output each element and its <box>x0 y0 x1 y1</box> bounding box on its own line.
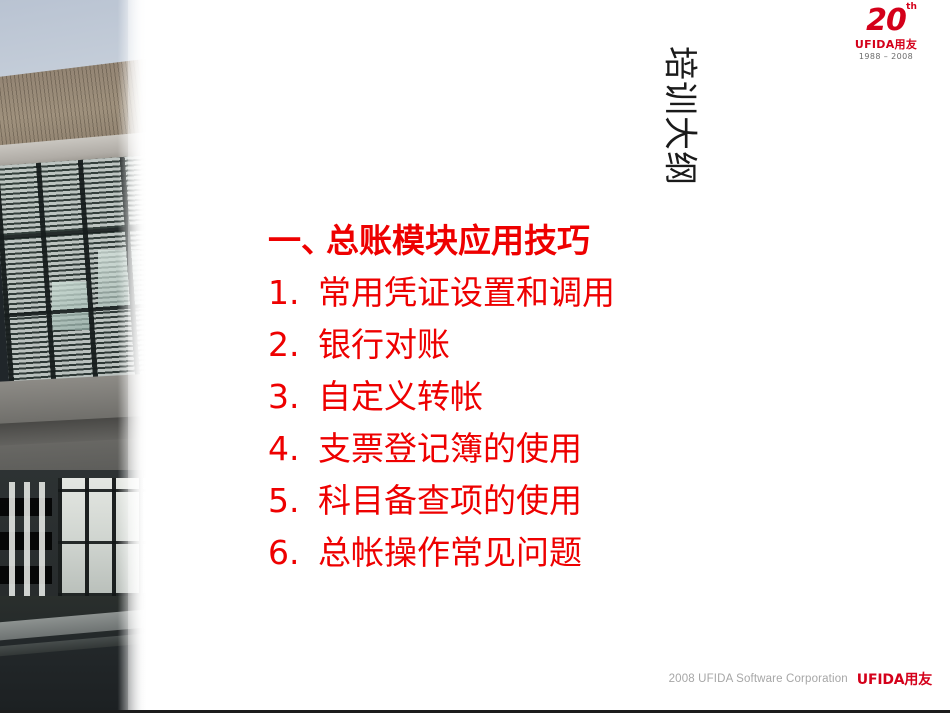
outline-item-6: 6. 总帐操作常见问题 <box>268 526 698 578</box>
outline-item-heading: 一、 总账模块应用技巧 <box>268 214 698 266</box>
slide-canvas: 20 th UFIDA用友 1988 – 2008 培训大纲 一、 总账模块应用… <box>0 0 950 713</box>
page-title-vertical-text: 培训大纲 <box>659 46 708 186</box>
decorative-building-photo <box>0 0 147 713</box>
outline-item-5: 5. 科目备查项的使用 <box>268 474 698 526</box>
logo-brand-text: UFIDA用友 <box>834 39 938 50</box>
outline-marker: 6. <box>268 533 318 572</box>
footer-copyright: 2008 UFIDA Software Corporation <box>669 673 848 685</box>
outline-label: 支票登记簿的使用 <box>318 422 582 470</box>
outline-label: 总帐操作常见问题 <box>318 526 582 574</box>
photo-window-mullions-horizontal <box>0 154 147 395</box>
outline-list: 一、 总账模块应用技巧 1. 常用凭证设置和调用 2. 银行对账 3. 自定义转… <box>268 214 698 578</box>
outline-marker: 5. <box>268 481 318 520</box>
logo-year-range: 1988 – 2008 <box>834 53 938 61</box>
outline-marker: 一、 <box>268 214 326 262</box>
logo-superscript: th <box>906 3 917 12</box>
photo-layers <box>0 0 147 713</box>
outline-label: 常用凭证设置和调用 <box>318 266 615 314</box>
slide-footer: 2008 UFIDA Software Corporation UFIDA用友 <box>147 669 950 689</box>
outline-label: 科目备查项的使用 <box>318 474 582 522</box>
logo-number: 20 <box>866 3 906 38</box>
ufida-20th-anniversary-logo: 20 th UFIDA用友 1988 – 2008 <box>834 6 938 61</box>
panel-divider <box>147 0 149 713</box>
outline-label: 银行对账 <box>318 318 450 366</box>
outline-item-4: 4. 支票登记簿的使用 <box>268 422 698 474</box>
page-title: 培训大纲 <box>660 36 706 196</box>
outline-item-3: 3. 自定义转帐 <box>268 370 698 422</box>
outline-marker: 1. <box>268 273 318 312</box>
outline-label: 自定义转帐 <box>318 370 483 418</box>
photo-glass-entrance-bay <box>58 478 147 596</box>
outline-label: 总账模块应用技巧 <box>326 214 590 262</box>
footer-brand-logo: UFIDA用友 <box>857 669 932 689</box>
outline-marker: 4. <box>268 429 318 468</box>
outline-item-1: 1. 常用凭证设置和调用 <box>268 266 698 318</box>
outline-item-2: 2. 银行对账 <box>268 318 698 370</box>
photo-lower-small-windows <box>0 482 52 600</box>
logo-number-row: 20 th <box>866 6 906 36</box>
outline-marker: 2. <box>268 325 318 364</box>
outline-marker: 3. <box>268 377 318 416</box>
